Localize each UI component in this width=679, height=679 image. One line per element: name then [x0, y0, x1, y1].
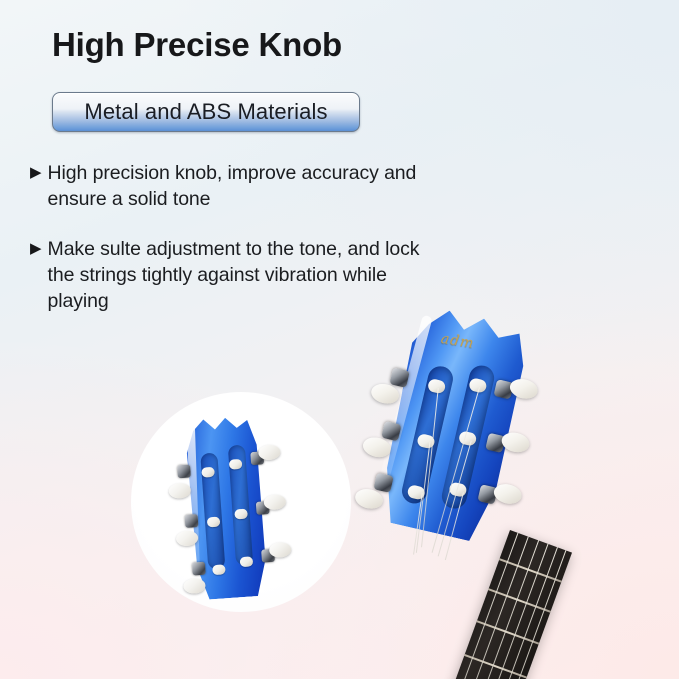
- inset-tuning-knob: [269, 542, 292, 558]
- headstock-closeup-inset: [131, 392, 351, 612]
- inset-headstock-illustration: [167, 405, 286, 608]
- triangle-bullet-icon: ▶: [30, 236, 42, 262]
- inset-tuning-knob: [258, 444, 281, 460]
- product-feature-image: High Precise Knob Metal and ABS Material…: [0, 0, 679, 679]
- triangle-bullet-icon: ▶: [30, 160, 42, 186]
- materials-badge: Metal and ABS Materials: [52, 92, 360, 132]
- inset-machine-head: [192, 562, 206, 576]
- inset-machine-head: [185, 514, 199, 528]
- materials-badge-label: Metal and ABS Materials: [84, 99, 327, 125]
- bullet-text: High precision knob, improve accuracy an…: [48, 160, 450, 212]
- feature-bullet-list: ▶ High precision knob, improve accuracy …: [30, 160, 450, 338]
- list-item: ▶ High precision knob, improve accuracy …: [30, 160, 450, 212]
- tuning-knob: [500, 430, 532, 455]
- inset-machine-head: [177, 464, 191, 478]
- bullet-text: Make sulte adjustment to the tone, and l…: [48, 236, 450, 314]
- inset-tuning-knob: [168, 483, 191, 499]
- guitar-headstock-photo: adm: [392, 312, 679, 679]
- list-item: ▶ Make sulte adjustment to the tone, and…: [30, 236, 450, 314]
- page-title: High Precise Knob: [52, 26, 342, 64]
- inset-tuning-knob: [183, 578, 206, 594]
- tuning-knob: [492, 482, 524, 507]
- inset-tuning-knob: [263, 494, 286, 510]
